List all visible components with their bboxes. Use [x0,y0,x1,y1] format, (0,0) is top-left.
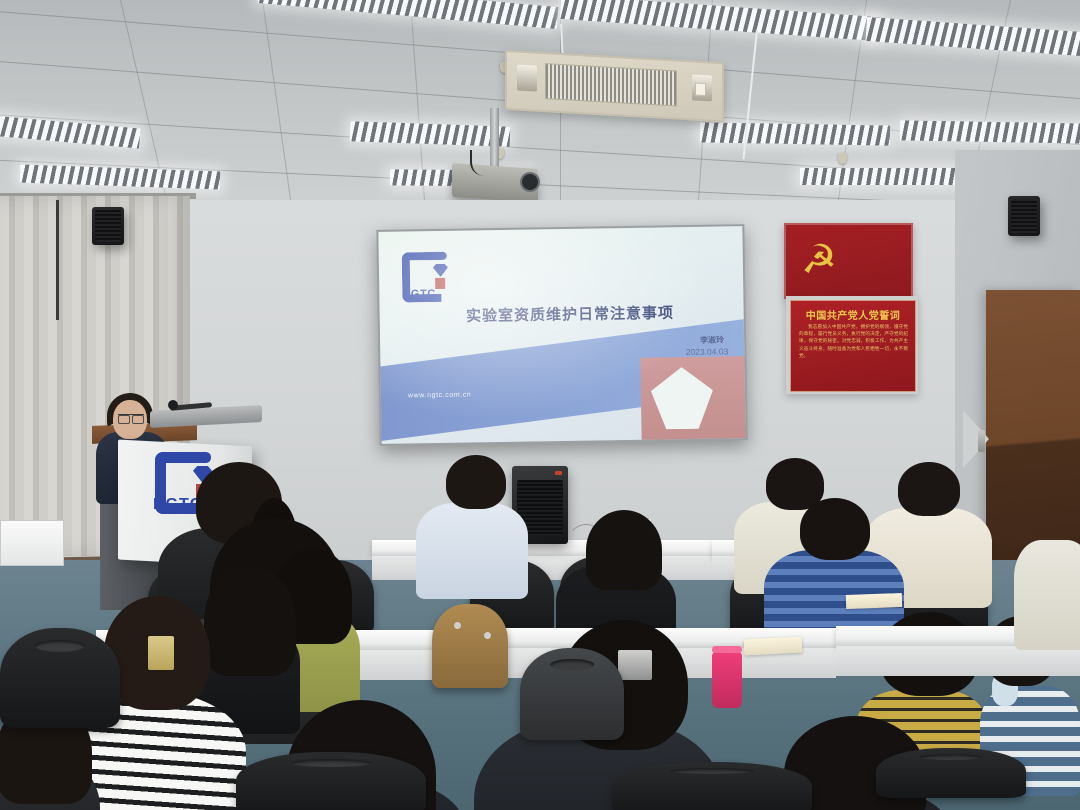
curtain-cord [56,200,59,320]
podium-logo-text: NGTC [153,496,202,514]
wall-speaker [92,207,124,245]
chair[interactable] [520,648,624,740]
oath-title: 中国共产党人党誓词 [791,307,915,322]
ceiling-light-panel [900,120,1080,143]
projector-lens-icon [520,172,540,192]
hair-clip [148,636,174,670]
chair[interactable] [876,748,1026,798]
whiteboard [0,520,64,566]
microphone-icon[interactable] [168,400,178,410]
wall-speaker [1008,196,1040,236]
party-flag: ☭ [784,223,913,299]
ceiling-air-conditioner [505,50,724,122]
conference-room-photo: NGTC 实验室资质维护日常注意事项 李淑玲 2023.04.03 www.ng… [0,0,1080,810]
ceiling-light-panel [800,168,980,185]
ceiling-light-panel [350,121,511,147]
ceiling-light-panel [865,17,1080,59]
wooden-chair[interactable] [432,604,508,688]
hammer-and-sickle-icon: ☭ [801,239,845,283]
chair[interactable] [612,762,812,810]
ceiling-light-panel [0,116,141,149]
presentation-slide: NGTC 实验室资质维护日常注意事项 李淑玲 2023.04.03 www.ng… [378,226,745,444]
oath-text: 我志愿加入中国共产党，拥护党的纲领，遵守党的章程，履行党员义务，执行党的决定，严… [799,323,908,359]
projector-cable [470,150,498,176]
projection-screen: NGTC 实验室资质维护日常注意事项 李淑玲 2023.04.03 www.ng… [376,224,747,446]
sprinkler-icon [838,153,847,164]
hair-clip [618,650,652,680]
ceiling-light-panel [258,0,559,29]
desk-row-mid-front [836,646,1080,676]
glasses-icon [118,414,144,422]
room-door[interactable] [986,290,1080,580]
notebook [744,636,803,655]
ceiling-light-panel [700,122,890,145]
chair[interactable] [0,628,120,728]
water-bottle[interactable] [712,652,742,708]
notebook [846,593,902,609]
ceiling-light-panel [560,0,881,41]
party-oath-board: 中国共产党人党誓词 我志愿加入中国共产党，拥护党的纲领，遵守党的章程，履行党员义… [786,296,918,394]
door-handle[interactable] [978,430,985,452]
chair[interactable] [236,752,426,810]
